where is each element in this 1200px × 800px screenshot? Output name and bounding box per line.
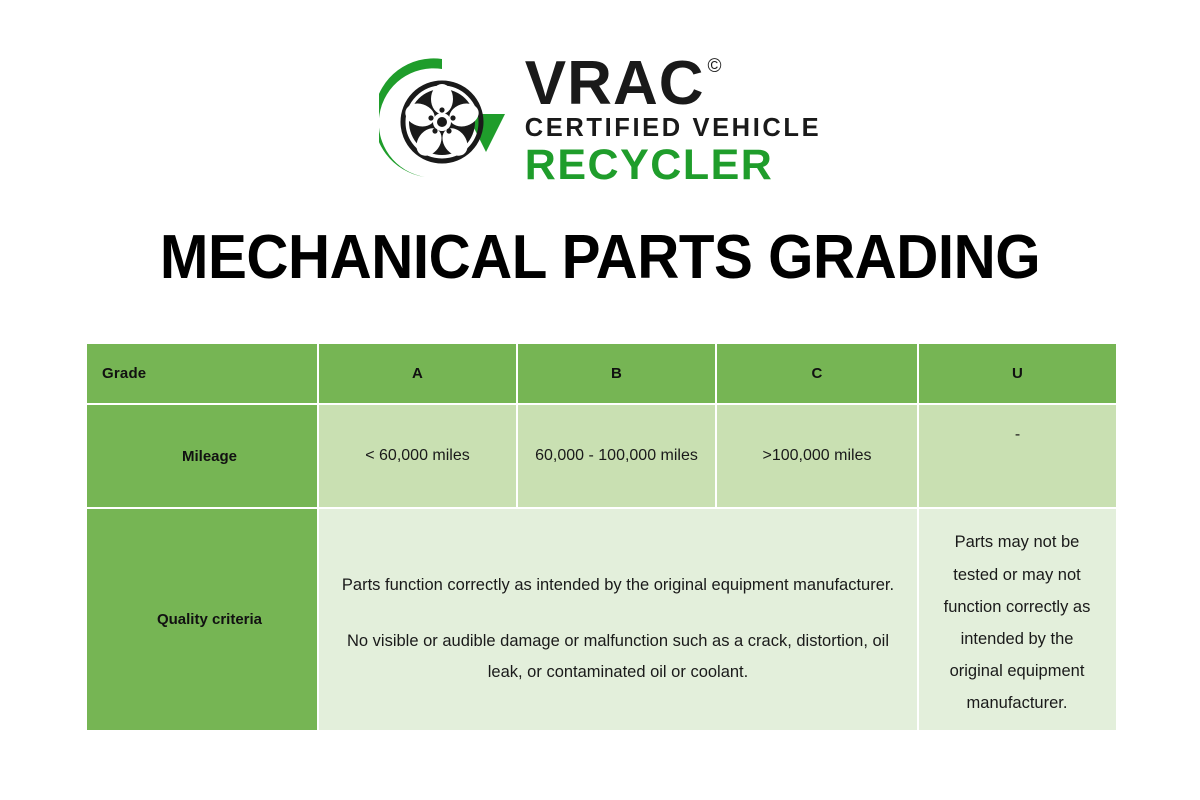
header-grade-b: B (517, 343, 716, 404)
logo-inner: VRAC © CERTIFIED VEHICLE RECYCLER (379, 52, 821, 188)
mileage-grade-u: - (918, 404, 1117, 508)
logo-brand-ac: AC (613, 55, 705, 112)
quality-criteria-u: Parts may not be tested or may not funct… (918, 508, 1117, 731)
mileage-grade-a: < 60,000 miles (318, 404, 517, 508)
page-title: MECHANICAL PARTS GRADING (36, 222, 1164, 293)
logo-wordmark-group: VRAC © CERTIFIED VEHICLE RECYCLER (525, 53, 821, 187)
header-grade-u: U (918, 343, 1117, 404)
table-row-mileage: Mileage < 60,000 miles 60,000 - 100,000 … (86, 404, 1117, 508)
table-header-row: Grade A B C U (86, 343, 1117, 404)
mileage-grade-c: >100,000 miles (716, 404, 918, 508)
brand-logo: VRAC © CERTIFIED VEHICLE RECYCLER (0, 52, 1200, 188)
quality-criteria-abc: Parts function correctly as intended by … (318, 508, 918, 731)
header-grade-label: Grade (86, 343, 318, 404)
table-row-quality-criteria: Quality criteria Parts function correctl… (86, 508, 1117, 731)
page-root: VRAC © CERTIFIED VEHICLE RECYCLER MECHAN… (0, 0, 1200, 800)
header-grade-a: A (318, 343, 517, 404)
logo-brand-v: V (525, 55, 567, 112)
vrac-wheel-recycle-logo-icon (379, 52, 509, 188)
quality-criteria-abc-paragraph-2: No visible or audible damage or malfunct… (341, 626, 895, 686)
row-label-quality-criteria: Quality criteria (86, 508, 318, 731)
header-grade-c: C (716, 343, 918, 404)
logo-brand-row: VRAC © (525, 55, 722, 112)
logo-tagline: CERTIFIED VEHICLE (525, 114, 821, 143)
mechanical-parts-grading-table: Grade A B C U Mileage < 60,000 miles 60,… (86, 343, 1117, 731)
logo-recycler-word: RECYCLER (525, 144, 774, 187)
copyright-icon: © (708, 57, 722, 76)
row-label-mileage: Mileage (86, 404, 318, 508)
mileage-grade-b: 60,000 - 100,000 miles (517, 404, 716, 508)
logo-brand-r: R (567, 55, 613, 112)
quality-criteria-abc-paragraph-1: Parts function correctly as intended by … (341, 570, 895, 600)
